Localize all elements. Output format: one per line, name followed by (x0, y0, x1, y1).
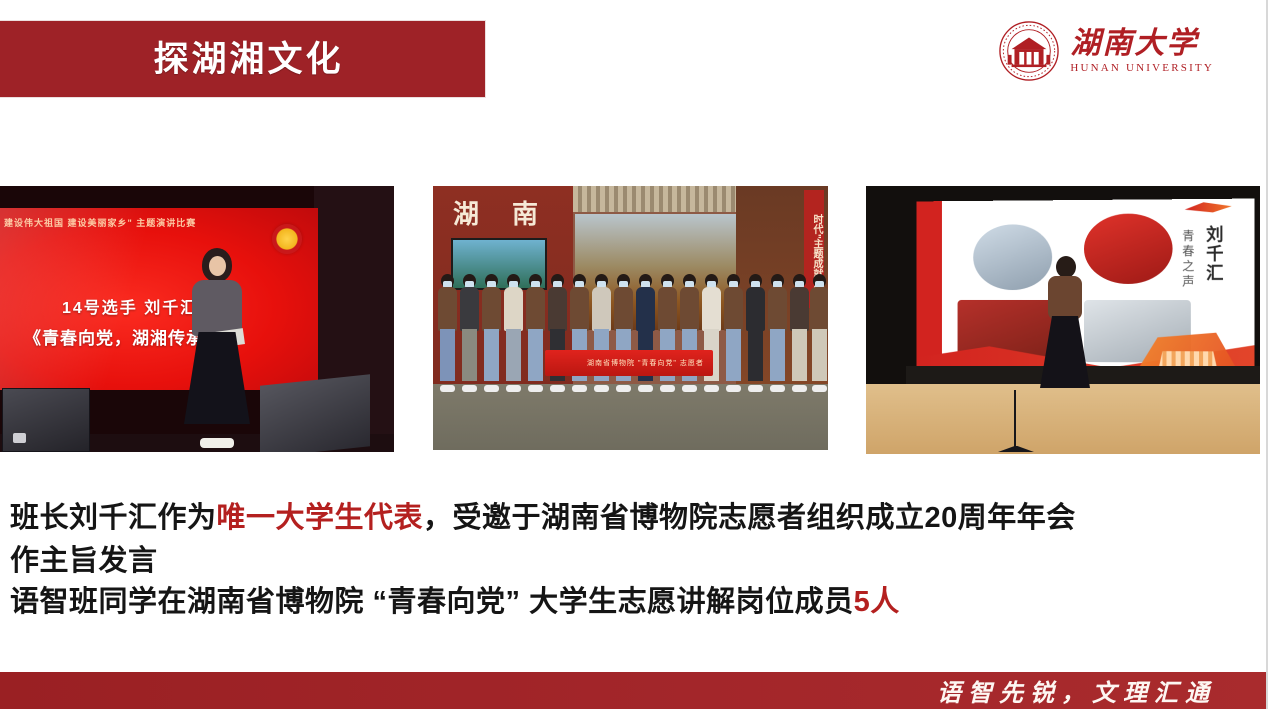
auditorium-presentation-photo: 青春之声 刘千汇 (866, 186, 1260, 454)
logo-chinese-name: 湖南大学 (1070, 28, 1214, 60)
led-headline-text: 建设伟大祖国 建设美丽家乡" 主题演讲比赛 (4, 216, 196, 229)
body-line-1-highlight: 唯一大学生代表 (217, 502, 424, 534)
slide-body-text: 班长刘千汇作为唯一大学生代表，受邀于湖南省博物院志愿者组织成立20周年年会 作主… (10, 498, 1258, 624)
university-logo: 湖南大学 HUNAN UNIVERSITY (998, 20, 1214, 82)
slide-title-banner: 探湖湘文化 (0, 21, 485, 97)
group-banner-text: 湖南省博物院 "青春向党" 志愿者 (587, 358, 704, 368)
photo-gallery: 建设伟大祖国 建设美丽家乡" 主题演讲比赛 14号选手 刘千汇 《青春向党，湖湘… (0, 186, 1268, 454)
slide-footer: 语智先锐，文理汇通 (0, 672, 1268, 709)
body-line-3-prefix: 语智班同学在湖南省博物院 “青春向党” 大学生志愿讲解岗位成员 (10, 586, 854, 618)
logo-wordmark: 湖南大学 HUNAN UNIVERSITY (1070, 28, 1214, 75)
museum-volunteers-group-photo: 湖 南 时代"主题成就展 (433, 186, 828, 450)
body-line-2: 作主旨发言 (10, 541, 1258, 582)
event-logo-icon (1185, 201, 1232, 213)
footer-slogan: 语智先锐，文理汇通 (937, 673, 1268, 708)
speech-contest-photo: 建设伟大祖国 建设美丽家乡" 主题演讲比赛 14号选手 刘千汇 《青春向党，湖湘… (0, 186, 394, 452)
page-title: 探湖湘文化 (141, 42, 343, 77)
screen-subtitle: 青春之声 (1180, 229, 1197, 290)
logo-english-name: HUNAN UNIVERSITY (1070, 62, 1214, 74)
national-emblem-icon (272, 224, 302, 254)
body-line-1-prefix: 班长刘千汇作为 (10, 502, 217, 534)
university-seal-icon (998, 20, 1060, 82)
presentation-slide: 探湖湘文化 湖南大学 HUNAN UNIVERSITY 建设 (0, 0, 1268, 709)
body-line-1: 班长刘千汇作为唯一大学生代表，受邀于湖南省博物院志愿者组织成立20周年年会 (10, 498, 1258, 539)
screen-presenter-name: 刘千汇 (1200, 225, 1226, 283)
body-line-3: 语智班同学在湖南省博物院 “青春向党” 大学生志愿讲解岗位成员5人 (10, 582, 1258, 623)
body-line-3-highlight: 5人 (854, 586, 900, 618)
speaker-figure (178, 248, 256, 448)
group-banner: 湖南省博物院 "青春向党" 志愿者 (545, 350, 713, 376)
museum-wall-text: 湖 南 (453, 194, 550, 231)
presenter-figure (1036, 256, 1094, 396)
body-line-1-suffix: ，受邀于湖南省博物院志愿者组织成立20周年年会 (423, 502, 1076, 534)
